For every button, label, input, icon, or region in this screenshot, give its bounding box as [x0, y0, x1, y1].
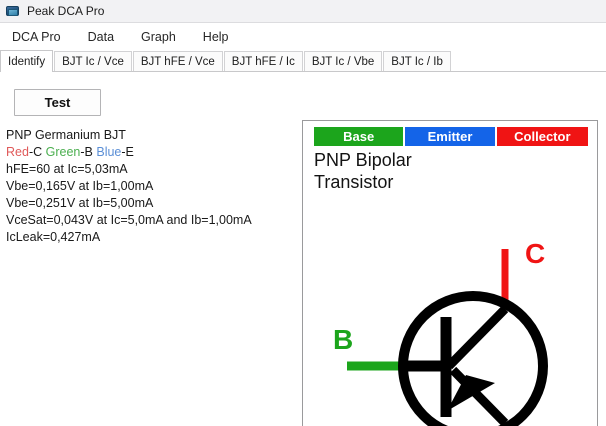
results-text-block: PNP Germanium BJT Red-C Green-B Blue-E h…	[6, 127, 298, 246]
window-title: Peak DCA Pro	[27, 5, 104, 17]
tab-identify[interactable]: Identify	[0, 50, 53, 72]
app-window: Peak DCA Pro DCA Pro Data Graph Help Ide…	[0, 0, 606, 426]
app-icon	[5, 3, 21, 19]
identify-tab-panel: Test PNP Germanium BJT Red-C Green-B Blu…	[0, 71, 606, 426]
menu-bar: DCA Pro Data Graph Help	[0, 23, 606, 50]
transistor-diagram-panel: Base Emitter Collector PNP Bipolar Trans…	[302, 120, 598, 426]
tab-bjt-ic-vce[interactable]: BJT Ic / Vce	[54, 51, 132, 72]
pinout-red-pin: -C	[29, 145, 42, 159]
tab-bjt-hfe-ic[interactable]: BJT hFE / Ic	[224, 51, 303, 72]
terminal-label-b: B	[333, 324, 353, 355]
result-vbe-1mA: Vbe=0,165V at Ib=1,00mA	[6, 178, 298, 195]
pinout-blue-pin: -E	[121, 145, 134, 159]
test-button[interactable]: Test	[14, 89, 101, 116]
tab-bjt-hfe-vce[interactable]: BJT hFE / Vce	[133, 51, 223, 72]
menu-item-help[interactable]: Help	[203, 30, 229, 44]
menu-item-graph[interactable]: Graph	[141, 30, 176, 44]
result-vbe-5mA: Vbe=0,251V at Ib=5,00mA	[6, 195, 298, 212]
tab-strip: Identify BJT Ic / Vce BJT hFE / Vce BJT …	[0, 50, 606, 72]
tab-bjt-ic-ib[interactable]: BJT Ic / Ib	[383, 51, 451, 72]
result-pinout: Red-C Green-B Blue-E	[6, 144, 298, 161]
result-device-type: PNP Germanium BJT	[6, 127, 298, 144]
title-bar: Peak DCA Pro	[0, 0, 606, 23]
collector-slant	[449, 309, 505, 366]
result-vcesat: VceSat=0,043V at Ic=5,0mA and Ib=1,00mA	[6, 212, 298, 229]
result-icleak: IcLeak=0,427mA	[6, 229, 298, 246]
pinout-red-label: Red	[6, 145, 29, 159]
pinout-green-label: Green	[46, 145, 81, 159]
result-hfe: hFE=60 at Ic=5,03mA	[6, 161, 298, 178]
menu-item-data[interactable]: Data	[88, 30, 114, 44]
pinout-green-pin: -B	[80, 145, 93, 159]
terminal-label-c: C	[525, 238, 545, 269]
menu-item-dca-pro[interactable]: DCA Pro	[12, 30, 61, 44]
tab-bjt-ic-vbe[interactable]: BJT Ic / Vbe	[304, 51, 382, 72]
pnp-transistor-symbol: C E B	[303, 121, 599, 426]
pinout-blue-label: Blue	[96, 145, 121, 159]
